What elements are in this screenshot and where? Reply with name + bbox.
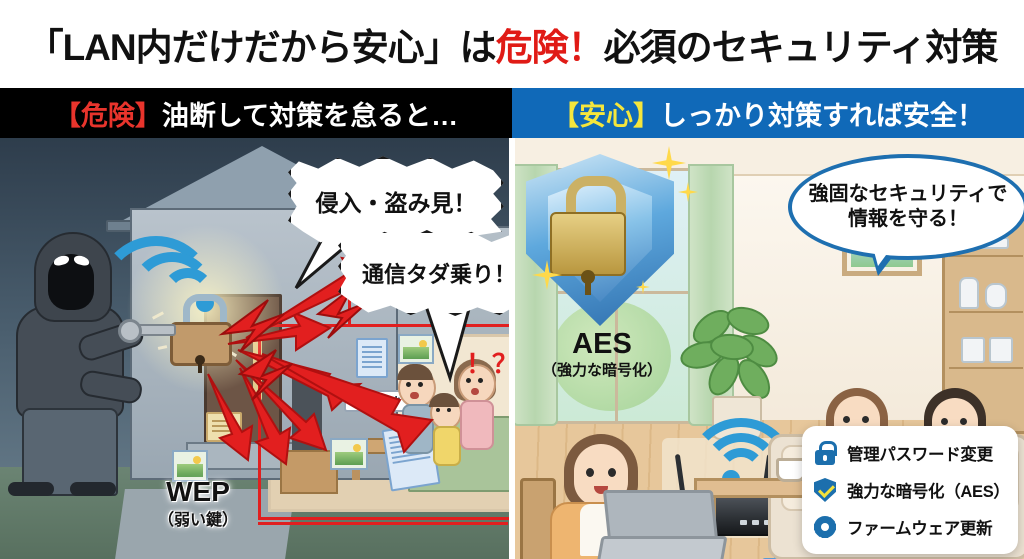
- bottle-icon: [985, 283, 1007, 309]
- laptop-keyboard: [594, 536, 727, 559]
- speech-bubble-intrusion-text: 侵入・盗み見！: [316, 184, 477, 218]
- danger-scene: ✱✱✱✱✱ 🔒 ！？: [0, 138, 512, 559]
- band-safe-tag: 【安心】: [552, 101, 660, 131]
- speech-bubble-secure: 強固なセキュリティで 情報を守る！: [788, 154, 1024, 260]
- speech-bubble-freeride-text: 通信タダ乗り！: [362, 257, 512, 289]
- band-danger-text: 【危険】油断して対策を怠ると…: [54, 94, 458, 133]
- lock-icon: [812, 440, 838, 466]
- title-part2: 必須のセキュリティ対策: [604, 27, 998, 68]
- band-danger-tag: 【危険】: [54, 101, 162, 131]
- bottle-icon: [959, 277, 979, 309]
- aes-note: （強力な暗号化）: [522, 359, 682, 380]
- title-highlight: 危険！: [496, 27, 604, 68]
- security-checklist-card: 管理パスワード変更 強力な暗号化（AES） ファームウェア更新: [802, 426, 1018, 554]
- speech-bubble-secure-line2: 情報を守る！: [848, 207, 968, 232]
- infographic-root: 「LAN内だけだから安心」は危険！必須のセキュリティ対策 【危険】油断して対策を…: [0, 0, 1024, 559]
- aes-label: AES （強力な暗号化）: [522, 328, 682, 380]
- title-part1: 「LAN内だけだから安心」は: [27, 27, 496, 68]
- cup-icon: [961, 337, 985, 363]
- checklist-item[interactable]: 管理パスワード変更: [812, 440, 1008, 466]
- checklist-item[interactable]: 強力な暗号化（AES）: [812, 477, 1008, 503]
- band-danger: 【危険】油断して対策を怠ると…: [0, 88, 512, 138]
- houseplant: [680, 308, 792, 404]
- gear-icon: [812, 514, 838, 540]
- bubble-tail-inner: [871, 240, 897, 266]
- speech-bubble-freeride: 通信タダ乗り！: [338, 230, 512, 316]
- aes-name: AES: [522, 328, 682, 361]
- panel-divider: [509, 138, 515, 559]
- title-bar: 「LAN内だけだから安心」は危険！必須のセキュリティ対策: [0, 0, 1024, 88]
- padlock-icon: [550, 176, 622, 272]
- band-safe: 【安心】しっかり対策すれば安全！: [512, 88, 1024, 138]
- cup-icon: [989, 337, 1013, 363]
- band-safe-label: しっかり対策すれば安全！: [660, 101, 984, 131]
- band-safe-text: 【安心】しっかり対策すれば安全！: [552, 94, 984, 133]
- shield-check-icon: [812, 477, 838, 503]
- band-danger-label: 油断して対策を怠ると…: [162, 101, 458, 131]
- checklist-label: 強力な暗号化（AES）: [847, 478, 1010, 502]
- checklist-item[interactable]: ファームウェア更新: [812, 514, 1008, 540]
- page-title: 「LAN内だけだから安心」は危険！必須のセキュリティ対策: [27, 17, 998, 71]
- checklist-label: ファームウェア更新: [847, 515, 992, 539]
- checklist-label: 管理パスワード変更: [847, 441, 993, 465]
- speech-bubble-secure-line1: 強固なセキュリティで: [809, 182, 1008, 207]
- safe-scene: AES （強力な暗号化）: [512, 138, 1024, 559]
